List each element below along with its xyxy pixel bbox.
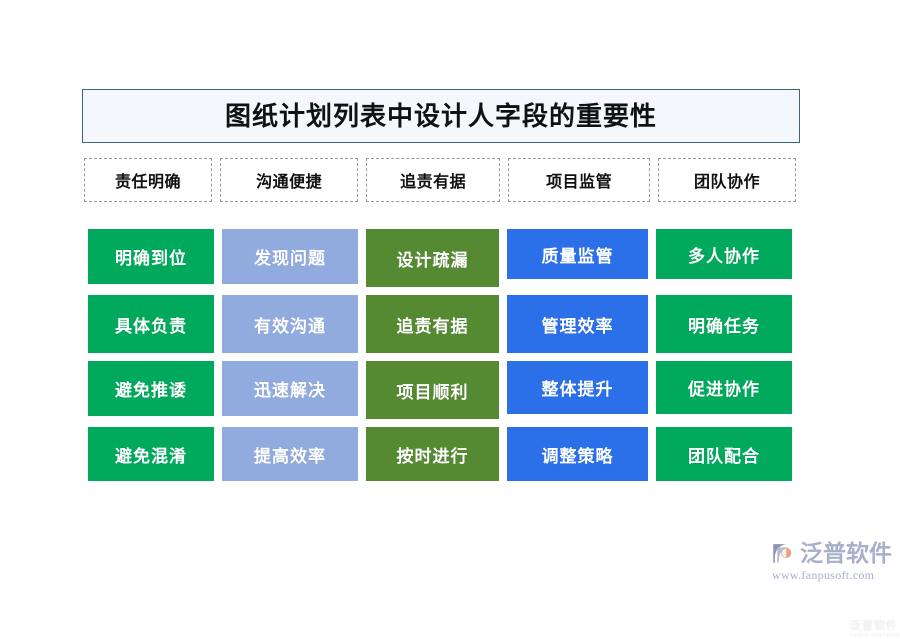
header-cell-3-label: 追责有据 <box>400 168 466 192</box>
matrix-cell: 迅速解决 <box>222 361 358 416</box>
matrix-cell: 按时进行 <box>366 427 499 481</box>
brand-logo: 泛普软件 www.fanpusoft.com <box>770 540 895 588</box>
watermark-text: 泛普软件 <box>850 620 898 632</box>
header-cell-1-label: 责任明确 <box>115 168 181 192</box>
watermark-overlay: 泛普软件 FANPU SOFTWARE <box>850 617 900 639</box>
brand-name: 泛普软件 <box>800 542 892 565</box>
matrix-cell: 避免混淆 <box>88 427 214 481</box>
matrix-cell: 提高效率 <box>222 427 358 481</box>
matrix-cell: 促进协作 泛普软件 FANPU SOFTWARE <box>656 361 792 414</box>
matrix-cell: 避免推诿 <box>88 361 214 416</box>
matrix-cell: 项目顺利 <box>366 361 499 419</box>
matrix-cell: 管理效率 <box>507 295 648 353</box>
matrix-cell: 整体提升 <box>507 361 648 414</box>
matrix-cell: 明确任务 <box>656 295 792 353</box>
header-cell-2-label: 沟通便捷 <box>256 168 322 192</box>
matrix-row: 具体负责 有效沟通 追责有据 管理效率 明确任务 <box>88 295 794 353</box>
header-row: 责任明确 沟通便捷 追责有据 项目监管 团队协作 <box>84 158 796 202</box>
watermark-subtext: FANPU SOFTWARE <box>850 633 900 639</box>
brand-url: www.fanpusoft.com <box>772 568 874 583</box>
matrix-cell: 调整策略 <box>507 427 648 481</box>
matrix-cell: 多人协作 <box>656 229 792 279</box>
matrix-cell: 质量监管 <box>507 229 648 279</box>
header-cell-5-label: 团队协作 <box>694 168 760 192</box>
header-cell-4: 项目监管 <box>508 158 650 202</box>
matrix-cell: 团队配合 <box>656 427 792 481</box>
matrix-cell: 具体负责 <box>88 295 214 353</box>
fanpu-logo-icon <box>770 540 796 566</box>
matrix-row: 避免推诿 迅速解决 项目顺利 整体提升 促进协作 泛普软件 FANPU SOFT… <box>88 361 794 419</box>
header-cell-2: 沟通便捷 <box>220 158 358 202</box>
matrix-cell: 明确到位 <box>88 229 214 284</box>
matrix-cell: 设计疏漏 <box>366 229 499 287</box>
title-banner: 图纸计划列表中设计人字段的重要性 <box>82 89 800 143</box>
page-title: 图纸计划列表中设计人字段的重要性 <box>225 103 657 129</box>
header-cell-4-label: 项目监管 <box>546 168 612 192</box>
matrix-row: 明确到位 发现问题 设计疏漏 质量监管 多人协作 <box>88 229 794 287</box>
brand-logo-row: 泛普软件 <box>770 540 892 566</box>
matrix-cell: 追责有据 <box>366 295 499 353</box>
matrix-grid: 明确到位 发现问题 设计疏漏 质量监管 多人协作 具体负责 有效沟通 追责有据 … <box>88 229 794 481</box>
header-cell-3: 追责有据 <box>366 158 500 202</box>
header-cell-1: 责任明确 <box>84 158 212 202</box>
header-cell-5: 团队协作 <box>658 158 796 202</box>
matrix-cell: 有效沟通 <box>222 295 358 353</box>
matrix-cell: 发现问题 <box>222 229 358 284</box>
matrix-row: 避免混淆 提高效率 按时进行 调整策略 团队配合 <box>88 427 794 481</box>
